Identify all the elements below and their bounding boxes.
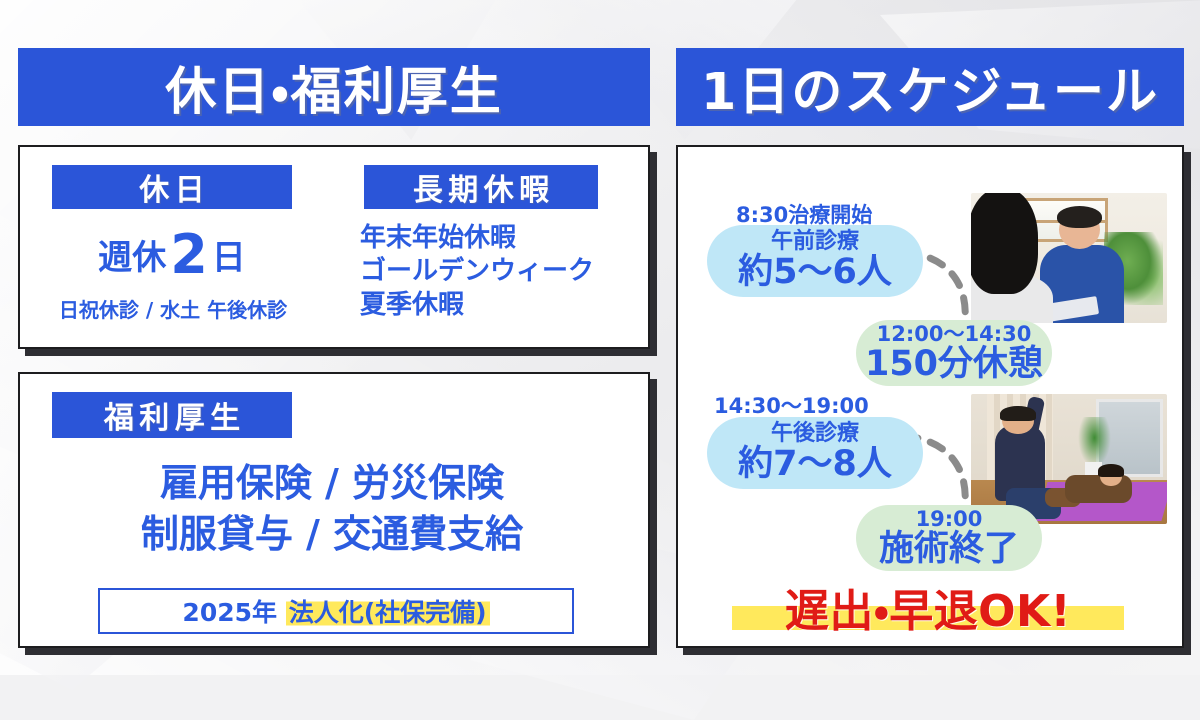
schedule-bubble-afternoon: 午後診療 約7〜8人: [707, 417, 923, 489]
holiday-note: 日祝休診 / 水土 午後休診: [34, 294, 312, 323]
bubble-value: 150分休憩: [865, 345, 1043, 384]
weekly-holiday-prefix: 週休: [98, 238, 166, 278]
bubble-label: 午前診療: [771, 230, 859, 253]
bubble-value: 約7〜8人: [738, 445, 892, 484]
incorporation-note-box: 2025年 法人化(社保完備): [98, 588, 574, 634]
badge-long-leave: 長期休暇: [364, 165, 598, 209]
header-banner-daily-schedule: 1日のスケジュール: [676, 48, 1184, 126]
note-highlight: 法人化(社保完備): [286, 598, 490, 627]
list-item: 年末年始休暇: [360, 222, 630, 255]
late-start-early-leave-callout: 遅出・早退OK!: [700, 578, 1156, 636]
long-leave-list: 年末年始休暇 ゴールデンウィーク 夏季休暇: [360, 222, 630, 322]
header-banner-holiday-benefits: 休日・福利厚生: [18, 48, 650, 126]
bubble-label: 午後診療: [771, 422, 859, 445]
benefits-list: 雇用保険 / 労災保険 制服貸与 / 交通費支給: [40, 458, 624, 559]
badge-holiday: 休日: [52, 165, 292, 209]
consultation-photo: [971, 193, 1167, 323]
schedule-bubble-end: 19:00 施術終了: [856, 505, 1042, 571]
weekly-holiday-suffix: 日: [212, 238, 246, 278]
bubble-label: 19:00: [916, 508, 983, 530]
bubble-value: 約5〜6人: [738, 253, 892, 292]
weekly-holiday-value: 週休2日: [52, 228, 292, 282]
schedule-bubble-break: 12:00〜14:30 150分休憩: [856, 320, 1052, 386]
badge-welfare: 福利厚生: [52, 392, 292, 438]
incorporation-note: 2025年 法人化(社保完備): [182, 593, 489, 629]
slide-stage: 休日・福利厚生 1日のスケジュール 休日 週休2日 日祝休診 / 水土 午後休診…: [0, 0, 1200, 675]
note-year: 2025年: [182, 598, 285, 627]
list-item: 制服貸与 / 交通費支給: [40, 509, 624, 560]
bubble-label: 12:00〜14:30: [877, 323, 1032, 345]
header-title-right: 1日のスケジュール: [701, 50, 1159, 124]
bubble-value: 施術終了: [879, 530, 1019, 569]
weekly-holiday-number: 2: [166, 223, 212, 286]
list-item: ゴールデンウィーク: [360, 255, 630, 288]
caption-afternoon-hours: 14:30〜19:00: [714, 390, 869, 420]
schedule-bubble-morning: 午前診療 約5〜6人: [707, 225, 923, 297]
list-item: 雇用保険 / 労災保険: [40, 458, 624, 509]
header-title-left: 休日・福利厚生: [165, 50, 503, 124]
list-item: 夏季休暇: [360, 289, 630, 322]
callout-text: 遅出・早退OK!: [785, 575, 1071, 639]
